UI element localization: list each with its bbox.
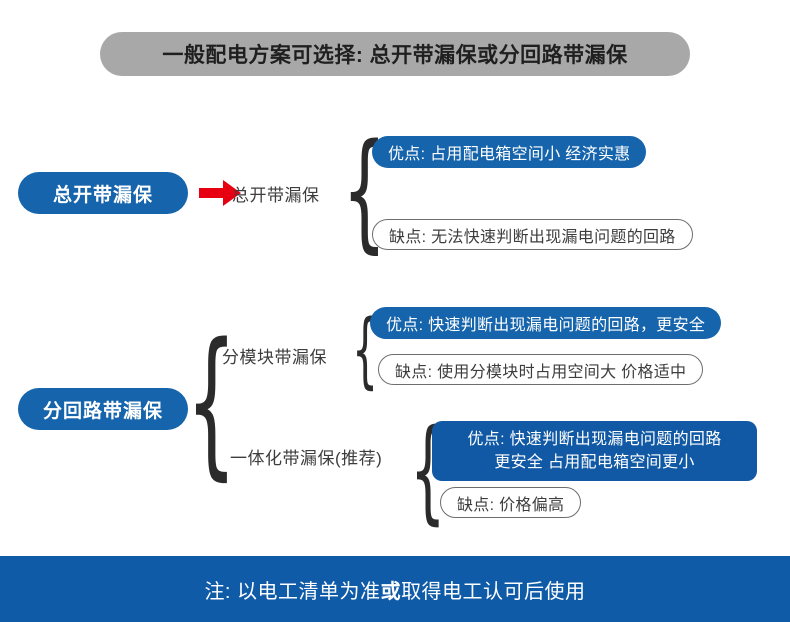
pros-pill-main-breaker-text: 优点: 占用配电箱空间小 经济实惠 xyxy=(388,140,630,164)
cons-pill-sub-module: 缺点: 使用分模块时占用空间大 价格适中 xyxy=(378,354,703,385)
page-title: 一般配电方案可选择: 总开带漏保或分回路带漏保 xyxy=(162,39,627,69)
infographic-canvas: 一般配电方案可选择: 总开带漏保或分回路带漏保 总开带漏保 总开带漏保 { 优点… xyxy=(0,0,790,622)
pros-pill-sub-module: 优点: 快速判断出现漏电问题的回路，更安全 xyxy=(370,307,721,339)
footer-note-prefix: 注: 以电工清单为准 xyxy=(204,581,380,603)
pros-box-integrated: 优点: 快速判断出现漏电问题的回路 更安全 占用配电箱空间更小 xyxy=(432,421,757,481)
pros-pill-main-breaker: 优点: 占用配电箱空间小 经济实惠 xyxy=(372,136,646,168)
cons-pill-integrated: 缺点: 价格偏高 xyxy=(440,487,581,518)
footer-note-suffix: 取得电工认可后使用 xyxy=(401,581,586,603)
node-label-integrated: 一体化带漏保(推荐) xyxy=(230,444,382,469)
cons-pill-sub-module-text: 缺点: 使用分模块时占用空间大 价格适中 xyxy=(395,358,686,382)
footer-note-emphasis: 或 xyxy=(381,581,402,603)
cons-pill-main-breaker-text: 缺点: 无法快速判断出现漏电问题的回路 xyxy=(389,223,676,247)
pros-pill-sub-module-text: 优点: 快速判断出现漏电问题的回路，更安全 xyxy=(386,311,705,335)
cons-pill-main-breaker: 缺点: 无法快速判断出现漏电问题的回路 xyxy=(372,219,693,250)
badge-branch-circuit[interactable]: 分回路带漏保 xyxy=(18,388,188,430)
footer-note-text: 注: 以电工清单为准或取得电工认可后使用 xyxy=(204,575,585,604)
cons-pill-integrated-text: 缺点: 价格偏高 xyxy=(457,491,564,515)
page-title-banner: 一般配电方案可选择: 总开带漏保或分回路带漏保 xyxy=(100,32,690,76)
badge-main-breaker-label: 总开带漏保 xyxy=(53,180,153,207)
pros-box-integrated-line-2: 更安全 占用配电箱空间更小 xyxy=(446,451,743,474)
badge-main-breaker[interactable]: 总开带漏保 xyxy=(18,172,188,214)
pros-box-integrated-line-1: 优点: 快速判断出现漏电问题的回路 xyxy=(446,428,743,451)
badge-branch-circuit-label: 分回路带漏保 xyxy=(43,396,163,423)
node-label-sub-module: 分模块带漏保 xyxy=(222,343,327,368)
node-label-main-breaker: 总开带漏保 xyxy=(232,181,320,206)
footer-note-bar: 注: 以电工清单为准或取得电工认可后使用 xyxy=(0,556,790,622)
